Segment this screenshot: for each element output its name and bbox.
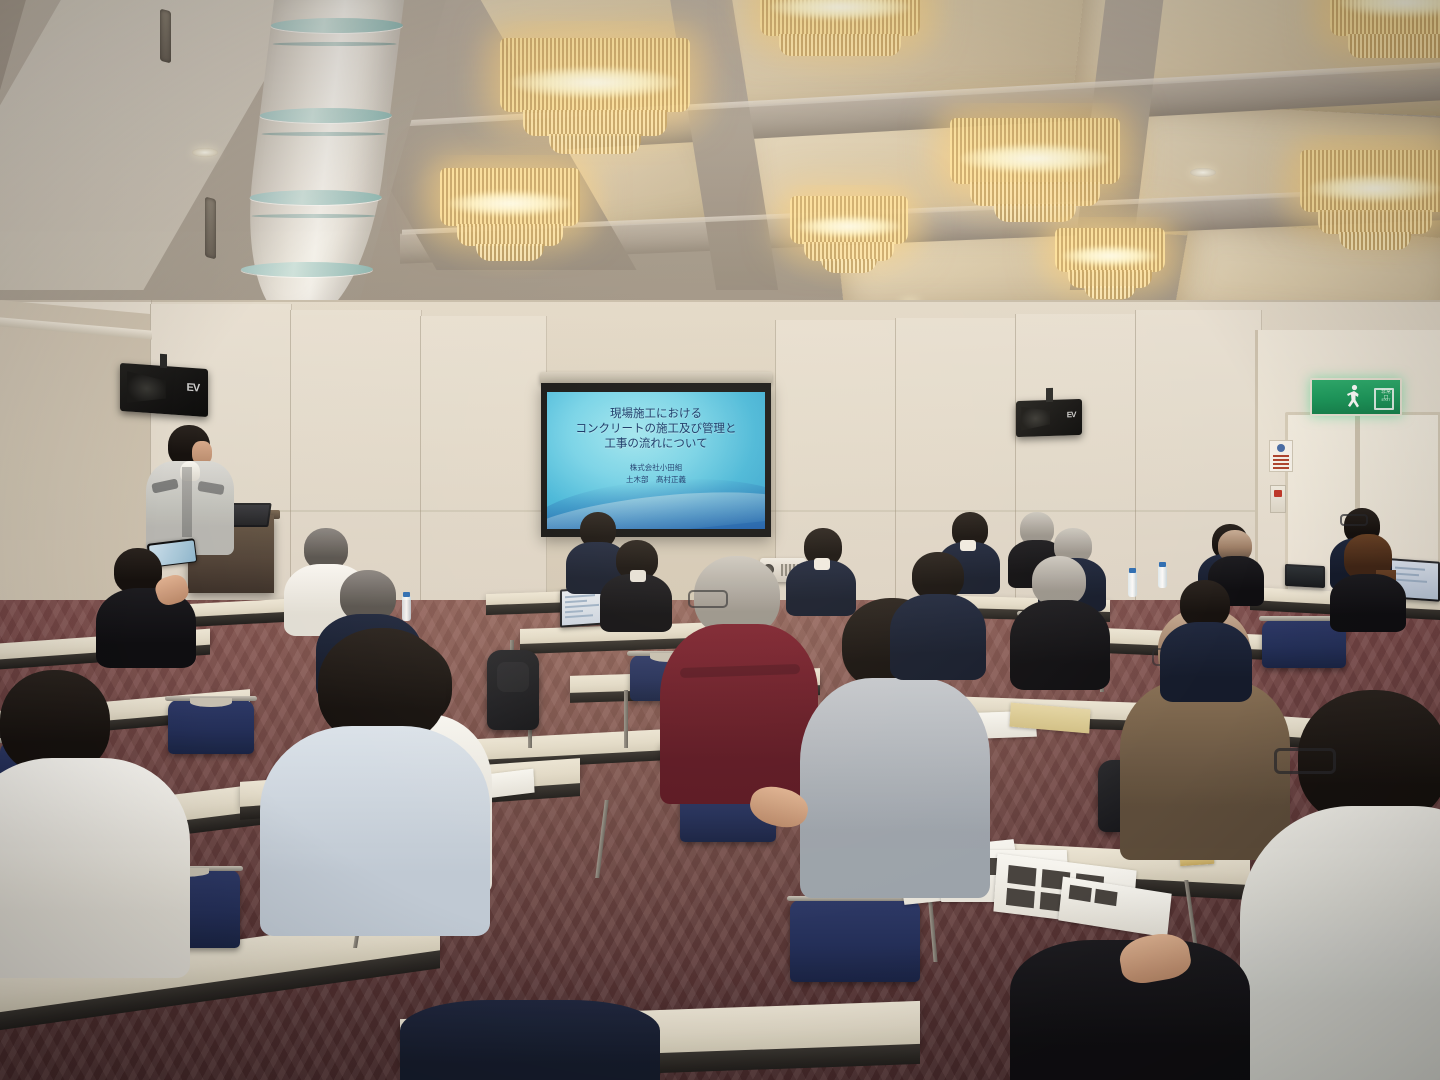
recessed-spotlight bbox=[192, 148, 218, 157]
presenter bbox=[140, 425, 236, 555]
chandelier bbox=[1300, 150, 1440, 255]
attendee bbox=[1160, 580, 1252, 700]
chandelier bbox=[1055, 228, 1165, 304]
speaker-brand-label: EV bbox=[1067, 410, 1076, 419]
slide-title-line-3: 工事の流れについて bbox=[547, 436, 765, 451]
running-person-icon bbox=[1346, 384, 1363, 410]
chair bbox=[790, 900, 920, 982]
slide-title-line-2: コンクリートの施工及び管理と bbox=[547, 421, 765, 436]
table-leg bbox=[624, 690, 628, 748]
slide-subtitle-line-2: 土木部 髙村正義 bbox=[547, 474, 765, 486]
attendee-foreground bbox=[0, 670, 190, 970]
attendee-foreground bbox=[1240, 690, 1440, 1080]
attendee-maroon-shirt bbox=[660, 556, 818, 806]
exit-sign: 非常口 EXIT bbox=[1310, 378, 1402, 416]
chandelier bbox=[500, 38, 690, 158]
eyeglasses bbox=[1340, 514, 1368, 526]
recessed-spotlight bbox=[1190, 168, 1216, 177]
attendee-foreground bbox=[260, 628, 490, 928]
attendee-foreground bbox=[400, 1000, 660, 1080]
wall-speaker-left: EV bbox=[120, 363, 208, 417]
air-vent bbox=[160, 9, 171, 64]
emergency-call-button[interactable] bbox=[1270, 485, 1286, 513]
chandelier bbox=[440, 168, 580, 264]
chandelier bbox=[1330, 0, 1440, 72]
eyeglasses bbox=[688, 590, 728, 608]
presenter-jacket-zip bbox=[182, 467, 192, 537]
chandelier bbox=[760, 0, 920, 70]
exit-sign-sublabel: EXIT bbox=[1379, 397, 1393, 402]
attendee bbox=[890, 552, 986, 676]
seminar-room-photo: 非常口 EXIT EV EV 現場施工における コンクリートの施工及び管理と 工… bbox=[0, 0, 1440, 1080]
eyeglasses bbox=[1274, 748, 1336, 774]
laptop[interactable] bbox=[1285, 564, 1325, 588]
slide-subtitle-line-1: 株式会社小田組 bbox=[547, 462, 765, 474]
slide-title-line-1: 現場施工における bbox=[547, 406, 765, 421]
ceiling bbox=[0, 0, 1440, 345]
attendee bbox=[1010, 556, 1110, 686]
air-vent bbox=[205, 197, 216, 260]
presentation-slide: 現場施工における コンクリートの施工及び管理と 工事の流れについて 株式会社小田… bbox=[547, 392, 765, 529]
wall-speaker-right: EV bbox=[1016, 399, 1082, 437]
chandelier bbox=[950, 118, 1120, 228]
wall-notice-placard bbox=[1269, 440, 1293, 472]
attendee bbox=[1330, 534, 1406, 630]
chandelier bbox=[790, 196, 908, 278]
backpack bbox=[487, 650, 539, 730]
speaker-brand-label: EV bbox=[187, 382, 200, 395]
attendee-photographer bbox=[96, 548, 196, 666]
water-bottle bbox=[1128, 572, 1137, 597]
